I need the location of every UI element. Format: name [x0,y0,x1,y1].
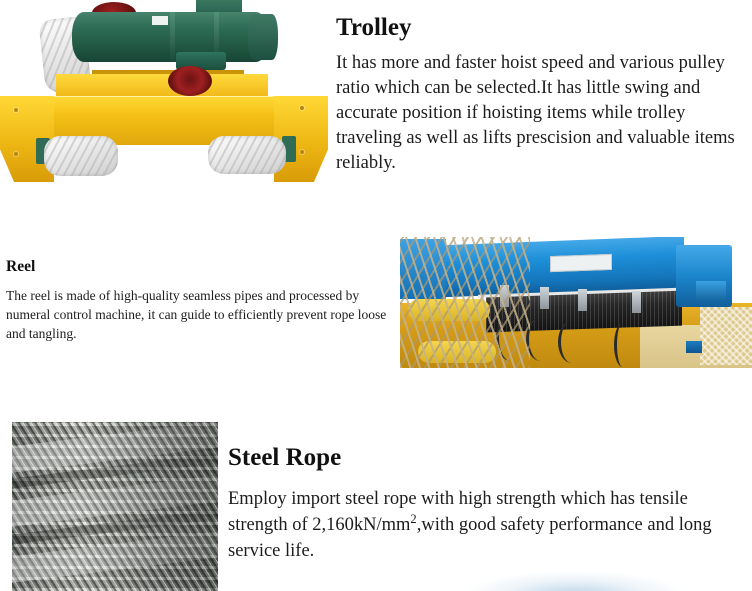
bolt-icon [300,106,304,110]
bolt-icon [14,108,18,112]
power-cable [558,321,585,363]
motor-end-cap [248,14,278,60]
product-detail-page: Trolley It has more and faster hoist spe… [0,0,752,591]
motor-nameplate [152,16,168,25]
steel-rope-heading: Steel Rope [228,444,750,472]
hemp-rope-bundle [400,237,530,368]
trolley-description: It has more and faster hoist speed and v… [336,51,752,176]
steel-rope-illustration [12,422,218,591]
crane-trolley-photo [0,0,330,186]
crane-reel-photo [400,237,752,368]
reel-text-column: Reel The reel is made of high-quality se… [6,258,388,343]
trolley-heading: Trolley [336,14,752,42]
motor-rib-1 [170,12,175,62]
reel-heading: Reel [6,258,388,275]
power-cable [526,317,555,361]
bolt-icon [14,152,18,156]
drum-clamp [540,287,549,309]
cut-off-image-fragment [470,572,680,591]
steel-rope-text-column: Steel Rope Employ import steel rope with… [228,444,750,564]
motor-terminal-box [696,281,726,301]
reel-nameplate [550,254,612,272]
bolt-icon [300,150,304,154]
steel-wire-rope-photo [12,422,218,591]
red-pulley-sheave [168,66,212,96]
mesh-grating [700,307,752,365]
trolley-text-column: Trolley It has more and faster hoist spe… [336,14,752,176]
drum-clamp [578,289,587,311]
mounting-foot [686,341,702,353]
drum-clamp [632,291,641,313]
wrapped-component-bottom-right [208,136,286,174]
wrapped-component-bottom-left [44,136,118,176]
reel-description: The reel is made of high-quality seamles… [6,286,388,343]
power-cable [614,323,631,367]
reel-illustration [400,237,752,368]
trolley-illustration [0,0,330,186]
steel-rope-description: Employ import steel rope with high stren… [228,486,750,564]
